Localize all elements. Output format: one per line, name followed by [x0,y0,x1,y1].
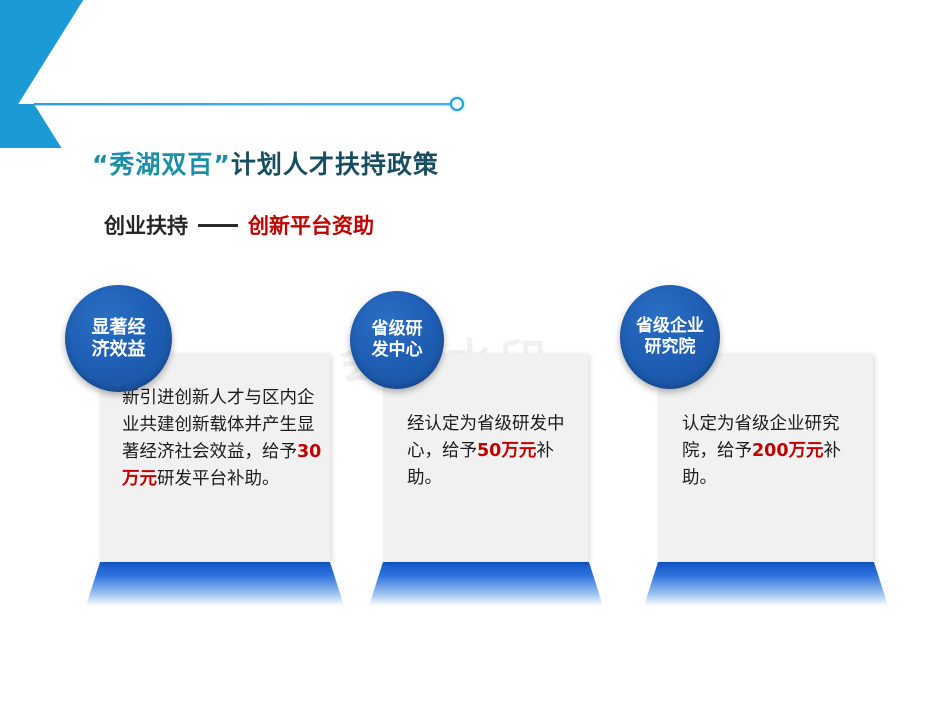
page-title-rest: 计划人才扶持政策 [231,150,439,179]
policy-card-text: 经认定为省级研发中心，给予50万元补助。 [407,411,585,492]
policy-card-text: 认定为省级企业研究院，给予200万元补助。 [682,411,872,492]
column-base-trapezoid [644,562,888,606]
policy-amount: 50万元 [477,441,536,461]
header-rule [34,95,464,115]
column-base-trapezoid [86,562,344,606]
subtitle-dash-divider [198,224,238,227]
header-rule-end-dot-icon [450,97,464,111]
page-title-accent: “秀湖双百” [92,150,231,179]
policy-badge: 显著经 济效益 [65,285,172,392]
page-subtitle-right: 创新平台资助 [248,214,374,238]
policy-card-text: 新引进创新人才与区内企业共建创新载体并产生显著经济社会效益，给予30万元研发平台… [122,385,322,494]
column-base-trapezoid [369,562,603,606]
page-subtitle: 创业扶持创新平台资助 [104,210,374,240]
slide-canvas: “秀湖双百”计划人才扶持政策 创业扶持创新平台资助 会员水印 新引进创新人才与区… [0,0,950,712]
header-rule-line [34,103,454,105]
page-subtitle-left: 创业扶持 [104,214,188,238]
policy-amount: 200万元 [752,441,824,461]
policy-badge: 省级企业 研究院 [620,285,720,389]
page-title: “秀湖双百”计划人才扶持政策 [92,145,439,181]
policy-text-post: 研发平台补助。 [157,469,280,489]
policy-text-pre: 新引进创新人才与区内企业共建创新载体并产生显著经济社会效益，给予 [122,388,315,462]
policy-badge: 省级研 发中心 [350,291,444,389]
